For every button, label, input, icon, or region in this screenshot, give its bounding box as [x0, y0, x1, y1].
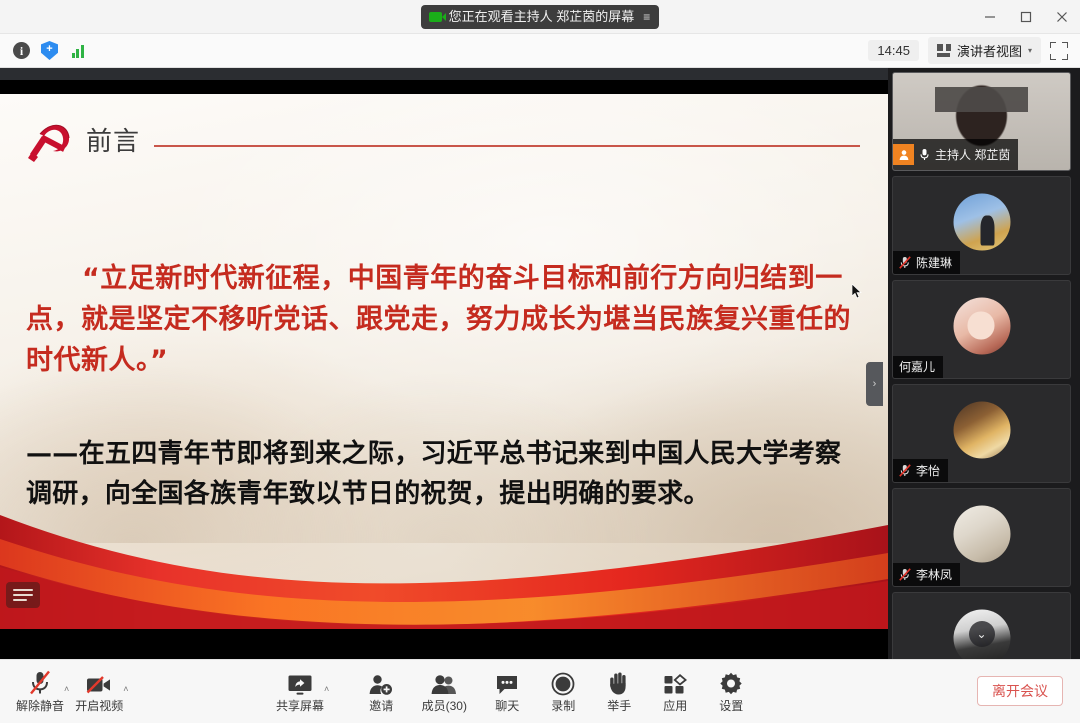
record-button[interactable]: 录制 [535, 668, 591, 712]
apps-button[interactable]: 应用 [647, 668, 703, 712]
party-emblem-icon [22, 114, 74, 164]
participant-nametag: 何嘉儿 [893, 356, 943, 378]
ppt-outline-button[interactable] [6, 582, 40, 608]
speaker-view-icon [937, 44, 951, 57]
network-quality-button[interactable] [67, 40, 88, 61]
participant-nametag: 陈建琳 [893, 251, 960, 274]
start-video-button[interactable]: 开启视频 [71, 668, 127, 712]
participant-nametag: 李怡 [893, 459, 948, 482]
start-video-label: 开启视频 [75, 700, 123, 712]
chat-label: 聊天 [495, 700, 519, 712]
audio-video-controls: 解除静音 ˄ 开启视频 ˄ [12, 668, 131, 712]
invite-icon [368, 668, 394, 696]
slide-header: 前言 [22, 110, 860, 168]
unmute-label: 解除静音 [16, 700, 64, 712]
raise-hand-icon [607, 668, 631, 696]
settings-icon [719, 668, 743, 696]
stage-letterbox-top [0, 80, 888, 94]
shield-icon: + [41, 41, 58, 60]
title-divider [154, 145, 860, 147]
invite-label: 邀请 [369, 700, 393, 712]
unmute-button[interactable]: 解除静音 [12, 668, 68, 712]
raise-hand-label: 举手 [607, 700, 631, 712]
avatar [953, 401, 1010, 458]
leave-meeting-button[interactable]: 离开会议 [977, 676, 1063, 706]
participant-tile[interactable]: 陈建琳 [892, 176, 1071, 275]
share-screen-icon [287, 668, 313, 696]
participant-tile[interactable]: 何嘉儿 [892, 280, 1071, 379]
screen-share-notice-label: 您正在观看主持人 郑芷茵的屏幕 [449, 10, 635, 23]
participant-name: 李林凤 [916, 569, 952, 581]
microphone-muted-icon [899, 464, 911, 477]
record-icon [551, 668, 575, 696]
collapse-panel-button[interactable]: › [866, 362, 883, 406]
meeting-control-bar: 解除静音 ˄ 开启视频 ˄ [0, 659, 1080, 723]
participant-tile[interactable]: 李怡 [892, 384, 1071, 483]
maximize-button[interactable] [1008, 0, 1044, 34]
presentation-slide: 前言 “立足新时代新征程，中国青年的奋斗目标和前行方向归结到一点，就是坚定不移听… [0, 94, 888, 629]
avatar [953, 193, 1010, 250]
chat-icon [495, 668, 519, 696]
share-screen-label: 共享屏幕 [276, 700, 324, 712]
camera-icon [429, 12, 442, 22]
layout-view-selector[interactable]: 演讲者视图 ▾ [928, 37, 1041, 64]
raise-hand-button[interactable]: 举手 [591, 668, 647, 712]
participant-nametag: 李林凤 [893, 563, 960, 586]
minimize-button[interactable] [972, 0, 1008, 34]
status-toolbar: i + 14:45 演讲者视图 ▾ [0, 34, 1080, 68]
host-badge-icon [893, 144, 914, 165]
stage-top-strip [0, 68, 888, 80]
video-off-icon [85, 668, 113, 696]
microphone-muted-icon [899, 256, 911, 269]
chat-button[interactable]: 聊天 [479, 668, 535, 712]
mouse-cursor-icon [852, 284, 863, 299]
apps-label: 应用 [663, 700, 687, 712]
audio-options-chevron-up-icon[interactable]: ˄ [64, 684, 69, 712]
screen-share-notice[interactable]: 您正在观看主持人 郑芷茵的屏幕 ≡ [421, 5, 660, 29]
participant-name: 主持人 郑芷茵 [935, 149, 1010, 161]
slide-body-text: ——在五四青年节即将到来之际，习近平总书记来到中国人民大学考察调研，向全国各族青… [26, 434, 848, 515]
chevron-down-icon: ▾ [1028, 46, 1032, 55]
participant-name: 陈建琳 [916, 257, 952, 269]
invite-button[interactable]: 邀请 [353, 668, 409, 712]
participant-strip[interactable]: 主持人 郑芷茵 陈建琳 何嘉儿 [888, 68, 1080, 659]
participant-nametag: 主持人 郑芷茵 [893, 139, 1018, 170]
signal-bars-icon [72, 44, 84, 58]
encryption-button[interactable]: + [39, 40, 60, 61]
hamburger-menu-icon[interactable]: ≡ [643, 11, 649, 23]
avatar [953, 297, 1010, 354]
fullscreen-button[interactable] [1050, 42, 1068, 60]
meeting-clock: 14:45 [868, 40, 919, 61]
titlebar: 您正在观看主持人 郑芷茵的屏幕 ≡ [0, 0, 1080, 34]
main-controls: 共享屏幕 ˄ 邀请 [272, 668, 759, 712]
meeting-window: 您正在观看主持人 郑芷茵的屏幕 ≡ i + [0, 0, 1080, 723]
participant-name: 何嘉儿 [899, 361, 935, 373]
status-icons: i + [0, 40, 88, 61]
window-controls [972, 0, 1080, 34]
meeting-info-button[interactable]: i [11, 40, 32, 61]
slide-ribbon-decoration [0, 509, 888, 629]
apps-icon [663, 668, 687, 696]
settings-button[interactable]: 设置 [703, 668, 759, 712]
participants-button[interactable]: 成员(30) [409, 668, 479, 712]
participants-icon [430, 668, 458, 696]
shared-screen-stage[interactable]: 前言 “立足新时代新征程，中国青年的奋斗目标和前行方向归结到一点，就是坚定不移听… [0, 68, 888, 659]
microphone-muted-icon [899, 568, 911, 581]
record-label: 录制 [551, 700, 575, 712]
slide-quote-text: “立足新时代新征程，中国青年的奋斗目标和前行方向归结到一点，就是坚定不移听党话、… [26, 258, 858, 381]
close-button[interactable] [1044, 0, 1080, 34]
layout-view-label: 演讲者视图 [957, 41, 1022, 60]
share-screen-button[interactable]: 共享屏幕 [272, 668, 328, 712]
settings-label: 设置 [719, 700, 743, 712]
host-video-band [935, 87, 1027, 112]
scroll-down-button[interactable]: ⌄ [969, 621, 995, 647]
participants-label: 成员(30) [422, 700, 467, 712]
video-options-chevron-up-icon[interactable]: ˄ [123, 684, 128, 712]
share-options-chevron-up-icon[interactable]: ˄ [324, 684, 329, 712]
microphone-on-icon [919, 148, 930, 161]
participant-tile[interactable]: ⌄ [892, 592, 1071, 659]
info-icon: i [13, 42, 30, 59]
toolbar-right-group: 14:45 演讲者视图 ▾ [868, 37, 1080, 64]
avatar [953, 505, 1010, 562]
participant-name: 李怡 [916, 465, 940, 477]
participant-tile[interactable]: 李林凤 [892, 488, 1071, 587]
slide-title: 前言 [86, 121, 140, 158]
participant-tile-host[interactable]: 主持人 郑芷茵 [892, 72, 1071, 171]
mic-off-icon [28, 668, 52, 696]
